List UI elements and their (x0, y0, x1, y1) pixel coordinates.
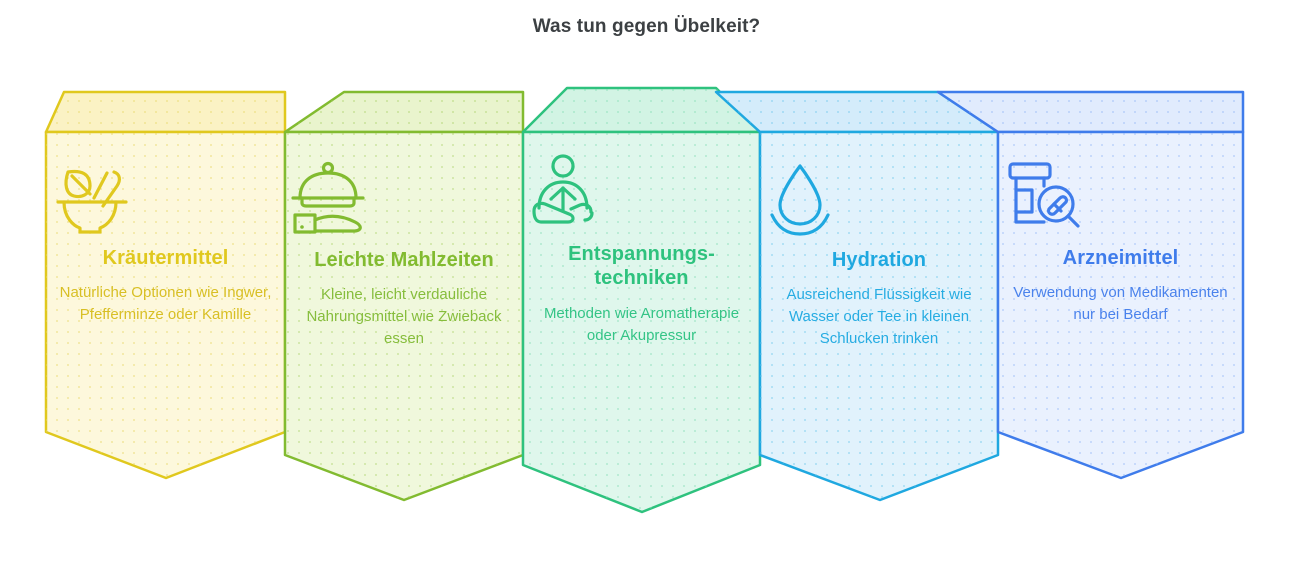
panel-title: Arzneimittel (1010, 246, 1231, 270)
pill-bottle-magnifier-icon (1010, 156, 1231, 240)
panel-arzneimittel[interactable]: Arzneimittel Verwendung von Medikamenten… (0, 0, 1293, 586)
infographic-panels: Kräutermittel Natürliche Optionen wie In… (0, 0, 1293, 586)
panel-description: Verwendung von Medikamenten nur bei Beda… (1010, 282, 1231, 326)
